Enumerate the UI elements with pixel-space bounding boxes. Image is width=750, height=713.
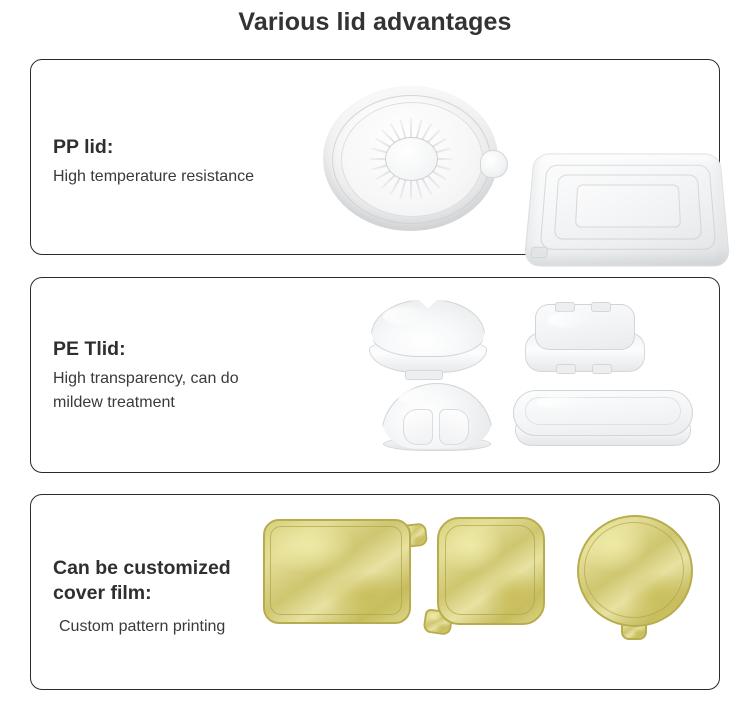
pp-rect-notch <box>531 247 549 258</box>
pp-rect-rib-2 <box>554 174 702 239</box>
cover-film-heading-line1: Can be customized <box>53 557 313 580</box>
pe-heart-highlight <box>383 307 427 325</box>
pe-square-top <box>535 304 635 350</box>
pe-oval-skirt <box>515 414 691 446</box>
pp-round-rim <box>332 95 492 225</box>
pp-rect-body <box>523 153 730 266</box>
pe-heart-skirt <box>369 339 487 373</box>
pe-dome-lobe-left <box>403 409 433 445</box>
pe-dome-cap <box>381 383 493 489</box>
pe-square-notch-4 <box>592 364 612 374</box>
film-circle-tab <box>621 616 647 640</box>
pp-round-inner-ring <box>341 102 483 217</box>
page-title: Various lid advantages <box>0 8 750 37</box>
film-square-plate <box>437 517 545 625</box>
pp-rect-rib-1 <box>539 165 717 250</box>
pp-rect-center-panel <box>575 185 681 227</box>
film-rect-tab <box>396 522 428 548</box>
pe-lid-heading: PE Tlid: <box>53 338 313 361</box>
pe-square-notch-3 <box>556 364 576 374</box>
cover-film-heading-line2: cover film: <box>53 582 313 605</box>
heart-shaped-pe-dome-lid-image <box>367 299 487 377</box>
pp-round-hub <box>385 137 438 181</box>
film-square-tab <box>422 608 453 636</box>
square-pe-dome-lid-image <box>525 304 643 374</box>
pp-lid-heading: PP lid: <box>53 136 313 159</box>
pe-square-notch-2 <box>591 302 611 312</box>
pe-square-notch-1 <box>555 302 575 312</box>
film-circle-plate <box>577 515 693 627</box>
panel-pp-lid: PP lid: High temperature resistance <box>30 59 720 255</box>
pe-lid-text-block: PE Tlid: High transparency, can do milde… <box>53 338 313 415</box>
circular-gold-cover-film-image <box>577 515 693 627</box>
pp-lid-text-block: PP lid: High temperature resistance <box>53 136 313 189</box>
pe-oval-inner-ring <box>525 397 681 425</box>
panel-pe-lid: PE Tlid: High transparency, can do milde… <box>30 277 720 473</box>
pe-dome-base <box>383 437 491 451</box>
film-circle-inner-ring <box>584 522 684 618</box>
oval-pe-flat-lid-image <box>513 390 691 448</box>
pe-oval-highlight <box>537 396 595 409</box>
round-pe-dome-lid-image <box>381 383 491 449</box>
pe-lid-description-line2: mildew treatment <box>53 391 313 415</box>
rectangular-pp-lid-image <box>529 148 725 266</box>
round-ribbed-pp-lid-image <box>323 86 498 231</box>
panel-cover-film: Can be customized cover film: Custom pat… <box>30 494 720 690</box>
pp-round-disc <box>323 86 498 231</box>
pe-dome-highlight <box>397 389 431 403</box>
cover-film-description: Custom pattern printing <box>53 615 313 639</box>
pe-lid-description-line1: High transparency, can do <box>53 367 313 391</box>
pe-oval-top <box>513 390 693 436</box>
pe-square-skirt <box>525 332 645 372</box>
pe-heart-foot <box>405 370 443 380</box>
pp-round-tab <box>480 150 508 178</box>
pe-square-highlight <box>547 312 591 328</box>
pe-heart-dome <box>371 299 485 357</box>
pp-lid-description: High temperature resistance <box>53 165 313 189</box>
cover-film-text-block: Can be customized cover film: Custom pat… <box>53 557 313 639</box>
film-square-inner-ring <box>445 525 535 615</box>
pe-dome-lobe-right <box>439 409 469 445</box>
square-gold-cover-film-image <box>437 517 545 625</box>
